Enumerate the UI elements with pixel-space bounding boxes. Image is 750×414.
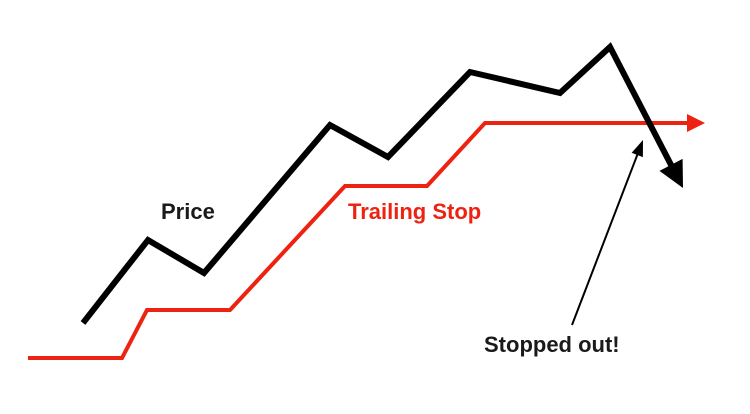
price-label: Price	[161, 199, 215, 225]
stopped-out-label: Stopped out!	[484, 332, 620, 358]
trailing-stop-label: Trailing Stop	[348, 199, 481, 225]
diagram-canvas: Price Trailing Stop Stopped out!	[0, 0, 750, 414]
